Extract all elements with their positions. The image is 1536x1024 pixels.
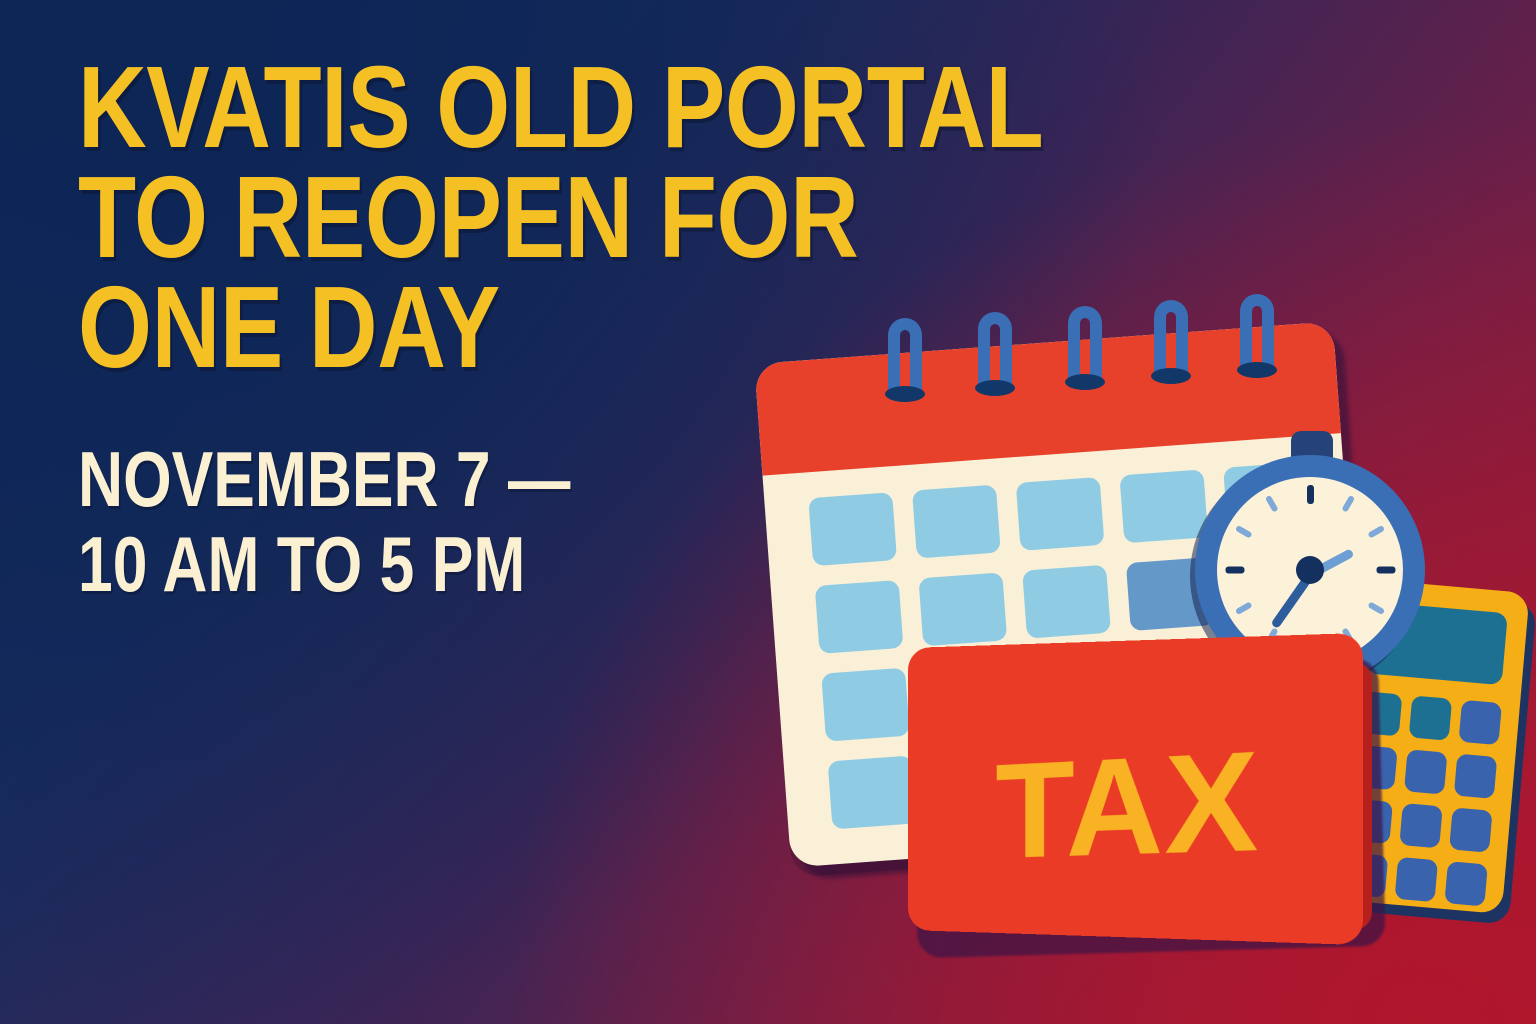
subtitle-line-2: 10 AM TO 5 PM <box>78 522 910 608</box>
calculator-key <box>1404 749 1448 794</box>
ring-arc <box>1240 294 1274 368</box>
clock-tick <box>1307 485 1314 504</box>
calculator-key <box>1444 861 1488 906</box>
calculator-key <box>1399 803 1443 848</box>
headline-group: KVATIS OLD PORTAL TO REOPEN FOR ONE DAY <box>78 52 1118 383</box>
ring-arc <box>1154 300 1188 374</box>
calendar-spiral-ring-icon <box>1240 294 1274 386</box>
clock-tick <box>1341 495 1355 513</box>
calendar-day-cell <box>821 668 910 742</box>
clock-tick <box>1376 567 1395 574</box>
calculator-key <box>1458 700 1502 745</box>
calculator-key <box>1395 857 1439 902</box>
calendar-spiral-ring-icon <box>1154 300 1188 392</box>
headline-line-1: KVATIS OLD PORTAL <box>78 52 931 162</box>
subtitle-group: NOVEMBER 7 — 10 AM TO 5 PM <box>78 437 1118 609</box>
calculator-key <box>1449 807 1493 852</box>
calculator-key <box>1409 695 1453 740</box>
poster-canvas: KVATIS OLD PORTAL TO REOPEN FOR ONE DAY … <box>0 0 1536 1024</box>
clock-tick <box>1225 567 1244 574</box>
clock-center-pivot <box>1296 556 1324 584</box>
text-block: KVATIS OLD PORTAL TO REOPEN FOR ONE DAY … <box>78 52 1118 608</box>
tax-card: TAX <box>908 648 1348 938</box>
tax-card-label: TAX <box>996 730 1260 880</box>
clock-tick <box>1235 601 1253 615</box>
calculator-key <box>1454 754 1498 799</box>
clock-tick <box>1235 525 1253 539</box>
clock-tick <box>1367 601 1385 615</box>
ring-foot <box>1237 362 1277 378</box>
tax-card-face: TAX <box>908 633 1363 945</box>
headline-line-2: TO REOPEN FOR <box>78 162 931 272</box>
headline-line-3: ONE DAY <box>78 272 931 382</box>
ring-foot <box>1151 368 1191 384</box>
subtitle-line-1: NOVEMBER 7 — <box>78 437 910 523</box>
calendar-day-cell <box>828 755 917 829</box>
clock-tick <box>1367 525 1385 539</box>
clock-tick <box>1265 495 1279 513</box>
